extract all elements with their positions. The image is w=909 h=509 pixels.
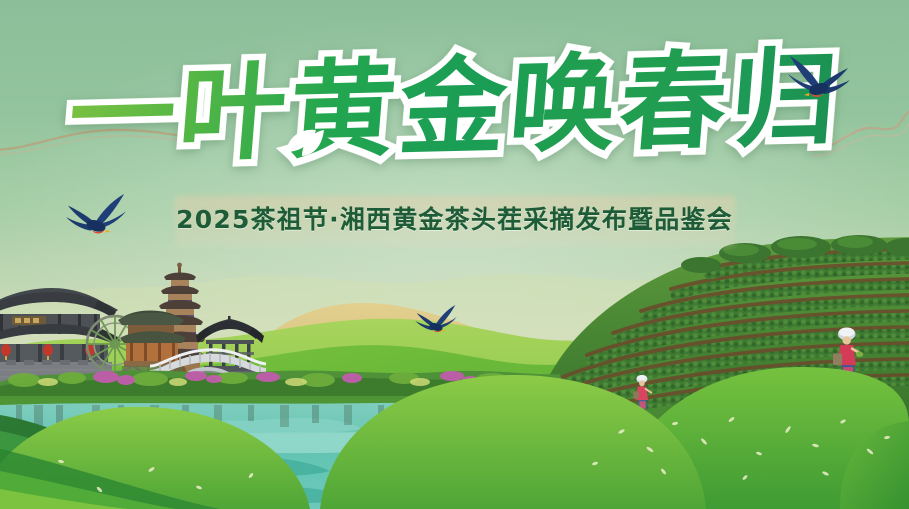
poster-canvas: 一叶黄金唤春归 一叶黄金唤春归 2025茶祖节·湘西黄金茶头茬采摘发布暨品鉴会 xyxy=(0,0,909,509)
front-hills xyxy=(0,329,909,509)
title-wrap: 一叶黄金唤春归 一叶黄金唤春归 xyxy=(70,48,840,167)
subtitle-band: 2025茶祖节·湘西黄金茶头茬采摘发布暨品鉴会 xyxy=(0,200,909,236)
page-title: 一叶黄金唤春归 xyxy=(64,39,845,176)
event-subtitle: 2025茶祖节·湘西黄金茶头茬采摘发布暨品鉴会 xyxy=(0,200,909,236)
title-block: 一叶黄金唤春归 一叶黄金唤春归 xyxy=(0,48,909,167)
